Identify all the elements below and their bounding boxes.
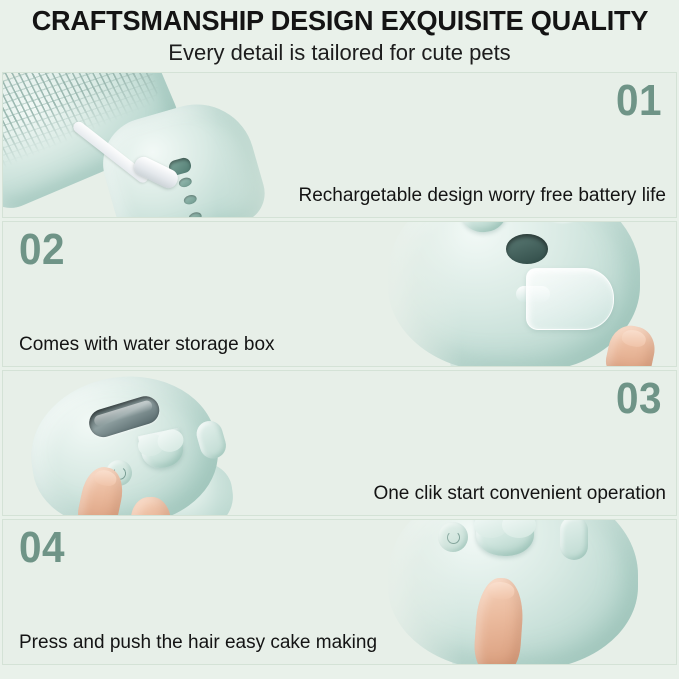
panel-number-02: 02 — [19, 225, 65, 275]
infographic-page: CRAFTSMANSHIP DESIGN EXQUISITE QUALITY E… — [0, 0, 679, 679]
water-fill-port — [506, 234, 548, 264]
page-title: CRAFTSMANSHIP DESIGN EXQUISITE QUALITY — [31, 4, 648, 38]
fingernail — [93, 468, 118, 488]
header: CRAFTSMANSHIP DESIGN EXQUISITE QUALITY E… — [0, 0, 679, 72]
product-photo-02 — [376, 222, 676, 367]
feature-panel-02: 02 Comes with water storage box — [2, 221, 677, 367]
hair-chamber-window — [512, 222, 598, 228]
product-photo-04 — [376, 520, 676, 665]
power-button-icon — [438, 522, 468, 552]
heart-release-button — [460, 222, 508, 234]
panel-number-03: 03 — [616, 374, 662, 424]
water-bottle — [526, 268, 614, 330]
side-button — [560, 520, 588, 560]
panel-number-04: 04 — [19, 523, 65, 573]
feature-panel-03: 03 One clik start convenient operation — [2, 370, 677, 516]
feature-panel-04: 04 Press and push the hair easy cake mak… — [2, 519, 677, 665]
feature-panel-01: 01 Rechargetable design worry free batte… — [2, 72, 677, 218]
panel-number-01: 01 — [616, 76, 662, 126]
panel-caption-02: Comes with water storage box — [19, 332, 275, 358]
fingernail — [487, 581, 515, 600]
product-photo-03 — [3, 371, 303, 516]
fingernail — [621, 328, 648, 348]
heart-release-button — [138, 428, 187, 472]
panel-caption-01: Rechargetable design worry free battery … — [298, 183, 666, 209]
page-subtitle: Every detail is tailored for cute pets — [168, 38, 510, 68]
heart-release-button — [476, 520, 534, 556]
product-photo-01 — [3, 73, 303, 218]
panel-caption-03: One clik start convenient operation — [373, 481, 666, 507]
panel-caption-04: Press and push the hair easy cake making — [19, 630, 377, 656]
